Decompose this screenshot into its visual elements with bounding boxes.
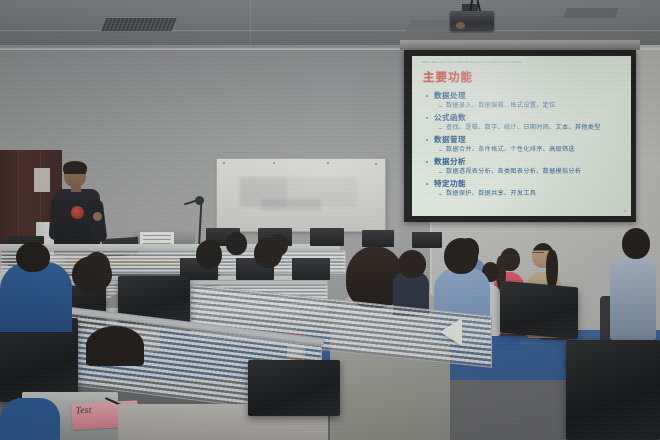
student-torso-blue-left xyxy=(0,262,72,332)
student-head-striped xyxy=(622,228,650,259)
slide-bullet-group: 特定功能 数据保护、数据共享、开发工具 xyxy=(422,178,625,199)
presenter-shirt-logo xyxy=(71,206,84,219)
presenter-hand xyxy=(93,212,102,221)
slide-bullet-heading: 数据处理 xyxy=(422,90,625,101)
student-head-mid-3 xyxy=(254,238,282,268)
student-head-blue-left xyxy=(16,242,50,272)
student-shoulder-foreground-blue xyxy=(0,398,60,440)
slide-header-text: Office Business Tools | Data Management … xyxy=(422,61,625,64)
whiteboard xyxy=(216,158,386,232)
student-head-foreground-left xyxy=(72,256,112,292)
slide-bullet-sub: 数据透视表分析、各类图表分析、数据模拟分析 xyxy=(422,167,625,177)
monitor-back-4 xyxy=(362,230,394,247)
slide-bullet-group: 数据分析 数据透视表分析、各类图表分析、数据模拟分析 xyxy=(422,156,625,177)
student-torso-striped xyxy=(610,256,656,340)
glasses-icon xyxy=(532,252,544,256)
monitor-foreground-right-large xyxy=(566,340,660,440)
microphone-icon xyxy=(195,196,204,205)
screen-housing xyxy=(400,40,640,50)
slide-bullet-group: 公式函数 查找、逻辑、数学、统计、日期时间、文本、其他类型 xyxy=(422,112,625,133)
air-vent-secondary-icon xyxy=(563,8,619,18)
slide-bullet-list: 数据处理 数据录入、数据编辑、格式设置、定位 公式函数 查找、逻辑、数学、统计、… xyxy=(422,90,625,200)
air-vent-icon xyxy=(101,18,176,31)
projection-screen: Office Business Tools | Data Management … xyxy=(412,56,631,216)
student-head-foreground-near xyxy=(86,326,144,366)
slide-bullet-heading: 数据分析 xyxy=(422,156,625,167)
student-head-navy xyxy=(398,250,426,278)
slide-page-number: 6 xyxy=(624,209,626,213)
student-head-mid-2 xyxy=(196,240,222,269)
slide-bullet-sub: 数据录入、数据编辑、格式设置、定位 xyxy=(422,101,625,111)
monitor-mid-4 xyxy=(292,258,330,280)
projector-lens-icon xyxy=(456,22,465,29)
student-head-back-1 xyxy=(226,232,247,255)
classroom-photo: Office Business Tools | Data Management … xyxy=(0,0,660,440)
monitor-front-center xyxy=(248,360,340,416)
slide-bullet-group: 数据处理 数据录入、数据编辑、格式设置、定位 xyxy=(422,90,625,111)
slide-title: 主要功能 xyxy=(423,69,473,85)
monitor-back-5 xyxy=(412,232,442,248)
whiteboard-erased-marks-lower xyxy=(261,199,321,211)
student-head-blue-shirt xyxy=(444,238,478,274)
monitor-back-3 xyxy=(310,228,344,246)
ceiling-seam xyxy=(0,30,660,31)
slide-bullet-sub: 数据合并、条件格式、个性化排序、高级筛选 xyxy=(422,145,625,155)
presenter-hair xyxy=(63,161,87,174)
monitor-fg-right xyxy=(500,281,578,340)
slide-bullet-heading: 特定功能 xyxy=(422,178,625,189)
slide-bullet-sub: 数据保护、数据共享、开发工具 xyxy=(422,189,625,199)
slide-bullet-heading: 公式函数 xyxy=(422,112,625,123)
wall-notice-paper xyxy=(34,168,50,192)
folded-paper-sign xyxy=(440,318,462,346)
slide-bullet-heading: 数据管理 xyxy=(422,134,625,145)
slide-bullet-sub: 查找、逻辑、数学、统计、日期时间、文本、其他类型 xyxy=(422,123,625,133)
slide-bullet-group: 数据管理 数据合并、条件格式、个性化排序、高级筛选 xyxy=(422,134,625,155)
